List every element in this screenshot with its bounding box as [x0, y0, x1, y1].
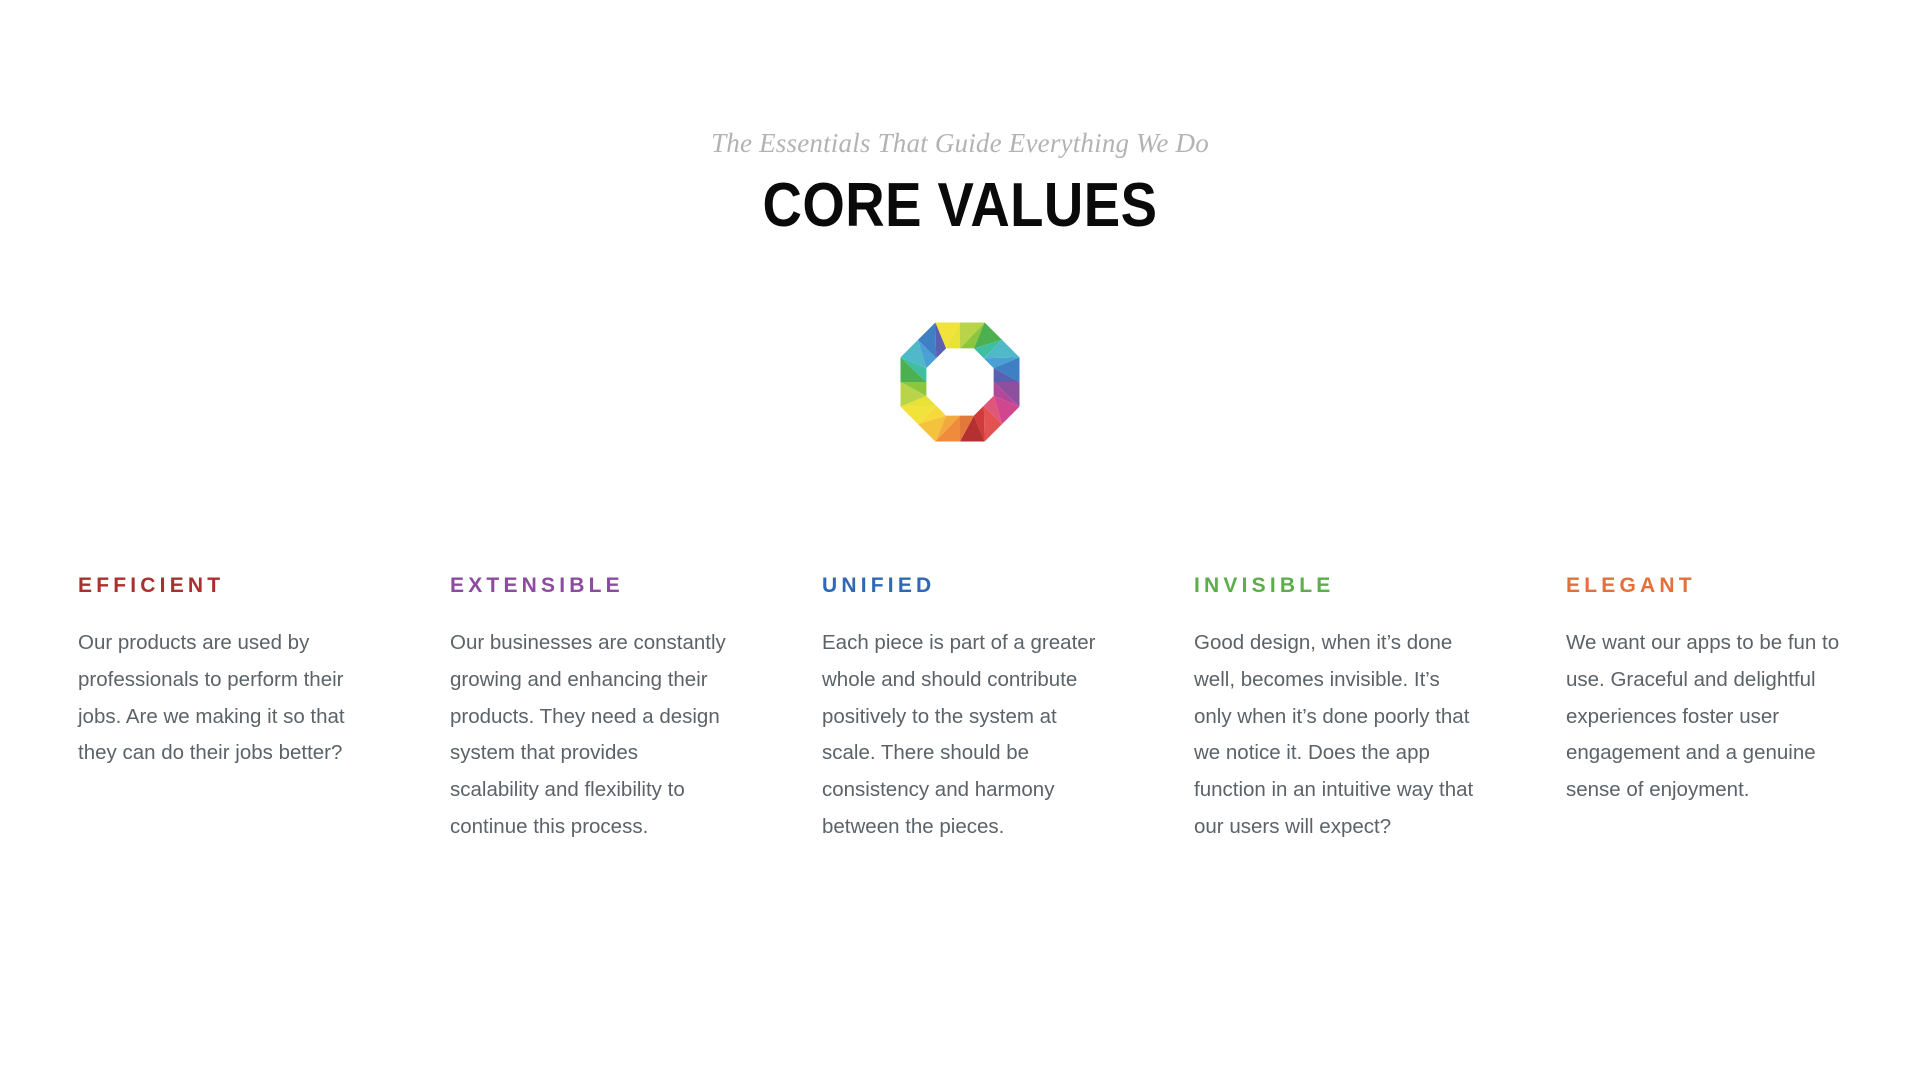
core-values-page: The Essentials That Guide Everything We … [0, 0, 1920, 1080]
logo-container [0, 312, 1920, 452]
value-column-extensible: EXTENSIBLE Our businesses are constantly… [450, 573, 730, 846]
page-title: CORE VALUES [115, 172, 1805, 240]
page-header: The Essentials That Guide Everything We … [0, 126, 1920, 240]
value-title-invisible: INVISIBLE [1194, 573, 1474, 599]
octagon-color-wheel-icon [890, 312, 1030, 452]
value-title-elegant: ELEGANT [1566, 573, 1846, 599]
value-body-elegant: We want our apps to be fun to use. Grace… [1566, 625, 1846, 809]
values-columns: EFFICIENT Our products are used by profe… [78, 573, 1846, 846]
value-body-extensible: Our businesses are constantly growing an… [450, 625, 730, 846]
value-body-invisible: Good design, when it’s done well, become… [1194, 625, 1474, 846]
value-title-efficient: EFFICIENT [78, 573, 358, 599]
value-column-invisible: INVISIBLE Good design, when it’s done we… [1194, 573, 1474, 846]
value-body-unified: Each piece is part of a greater whole an… [822, 625, 1102, 846]
value-column-efficient: EFFICIENT Our products are used by profe… [78, 573, 358, 772]
value-title-unified: UNIFIED [822, 573, 1102, 599]
value-title-extensible: EXTENSIBLE [450, 573, 730, 599]
value-body-efficient: Our products are used by professionals t… [78, 625, 358, 772]
value-column-unified: UNIFIED Each piece is part of a greater … [822, 573, 1102, 846]
value-column-elegant: ELEGANT We want our apps to be fun to us… [1566, 573, 1846, 809]
page-eyebrow: The Essentials That Guide Everything We … [0, 126, 1920, 160]
